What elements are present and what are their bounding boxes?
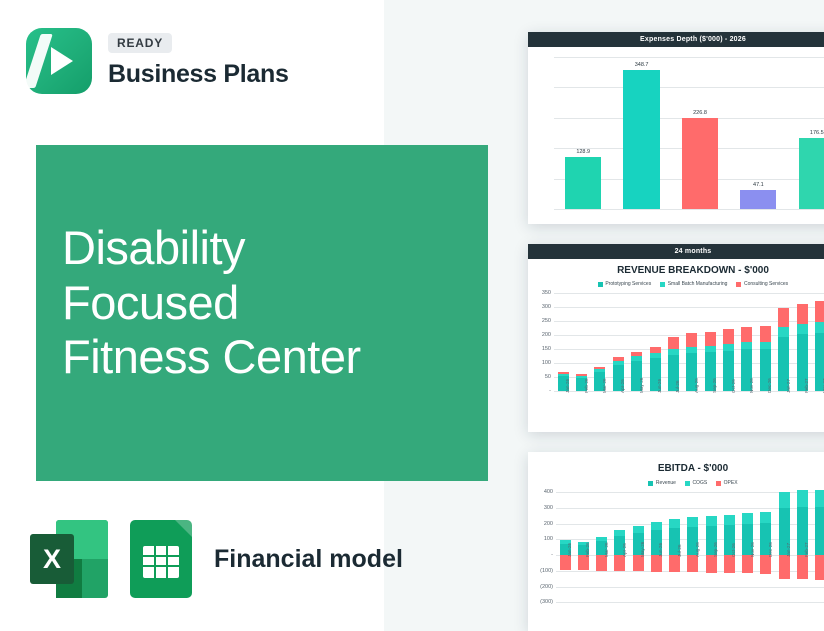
brand-name: Business Plans	[108, 60, 289, 89]
stacked-bar-segment	[651, 522, 662, 530]
stacked-bar-segment	[705, 346, 716, 352]
ebitda-chart-title: EBITDA - $'000	[528, 463, 824, 474]
revenue-legend: Prototyping ServicesSmall Batch Manufact…	[528, 281, 824, 287]
stacked-bar-segment	[797, 555, 808, 579]
y-axis-tick: 50	[545, 374, 551, 380]
stacked-bar-segment	[558, 372, 569, 373]
x-axis-tick: Feb-26	[585, 543, 590, 558]
x-axis-tick: Sep-26	[712, 379, 717, 394]
y-axis-tick: 200	[542, 332, 551, 338]
revenue-chart-title: REVENUE BREAKDOWN - $'000	[528, 265, 824, 276]
stacked-bar-segment	[669, 519, 680, 528]
stacked-bar-segment	[669, 555, 680, 572]
y-axis-tick: 100	[544, 536, 553, 542]
cover-title-line-1: Disability	[62, 221, 361, 276]
x-axis-tick: Nov-26	[749, 379, 754, 394]
stacked-bar-segment	[723, 329, 734, 344]
y-axis-tick: -	[551, 552, 553, 558]
gridline	[554, 391, 824, 392]
stacked-bar-segment	[815, 555, 824, 579]
stacked-bar-segment	[594, 367, 605, 369]
stacked-bar-segment	[760, 555, 771, 574]
gridline	[556, 587, 824, 588]
y-axis-tick: 200	[544, 521, 553, 527]
excel-letter: X	[30, 534, 74, 584]
stacked-bar-segment	[724, 555, 735, 573]
y-axis-tick: (200)	[540, 584, 553, 590]
revenue-bar-chart: -50100150200250300350Jan-26Feb-26Mar-26A…	[554, 293, 824, 391]
x-axis-tick: Oct-26	[731, 543, 736, 557]
stacked-bar-segment	[614, 555, 625, 571]
x-axis-tick: Dec-26	[767, 379, 772, 394]
x-axis-tick: Jan-26	[567, 543, 572, 557]
x-axis-tick: Jul-26	[677, 545, 682, 558]
bar-value-label: 226.8	[671, 110, 729, 116]
stacked-bar-segment	[760, 512, 771, 523]
x-axis-tick: Sep-26	[713, 542, 718, 557]
gridline	[554, 209, 824, 210]
revenue-card-topbar: 24 months	[528, 244, 824, 259]
y-axis-tick: 350	[542, 290, 551, 296]
chart-card-ebitda: EBITDA - $'000 RevenueCOGSOPEX 400300200…	[528, 452, 824, 631]
stacked-bar-segment	[706, 555, 717, 573]
stacked-bar-segment	[686, 347, 697, 353]
stacked-bar-segment	[596, 555, 607, 570]
x-axis-tick: Feb-27	[804, 543, 809, 558]
stacked-bar-segment	[742, 513, 753, 524]
stacked-bar-segment	[633, 555, 644, 571]
x-axis-tick: Feb-26	[584, 379, 589, 394]
stacked-bar-segment	[560, 555, 571, 570]
stacked-bar-segment	[705, 332, 716, 346]
stacked-bar-segment	[760, 342, 771, 349]
stacked-bar-segment	[815, 490, 824, 507]
ebitda-legend: RevenueCOGSOPEX	[528, 480, 824, 486]
legend-item: OPEX	[716, 480, 737, 486]
y-axis-tick: 100	[542, 360, 551, 366]
x-axis-tick: Apr-26	[622, 543, 627, 557]
legend-item: Revenue	[648, 480, 676, 486]
stacked-bar-segment	[631, 356, 642, 360]
stacked-bar-segment	[687, 517, 698, 527]
x-axis-tick: Apr-26	[620, 380, 625, 394]
expenses-bar-chart: 128.9348.7226.847.1176.5	[554, 57, 824, 209]
x-axis-tick: Jan-27	[786, 543, 791, 557]
stacked-bar-segment	[741, 327, 752, 342]
x-axis-tick: Jul-26	[675, 381, 680, 394]
financial-model-label: Financial model	[214, 545, 403, 574]
stacked-bar-segment	[651, 555, 662, 572]
y-axis-tick: (300)	[540, 599, 553, 605]
x-axis-tick: Jan-26	[565, 379, 570, 393]
stacked-bar-segment	[631, 352, 642, 356]
x-axis-tick: Oct-26	[731, 380, 736, 394]
stacked-bar-segment	[741, 342, 752, 349]
y-axis-tick: 400	[544, 489, 553, 495]
legend-item: Consulting Services	[736, 281, 788, 287]
stacked-bar-segment	[779, 492, 790, 509]
stacked-bar-segment	[778, 308, 789, 328]
stacked-bar-segment	[576, 374, 587, 375]
x-axis-tick: May-26	[639, 378, 644, 393]
gridline	[554, 293, 824, 294]
chart-card-revenue: 24 months REVENUE BREAKDOWN - $'000 Prot…	[528, 244, 824, 432]
bar	[799, 138, 824, 209]
x-axis-tick: Feb-27	[804, 379, 809, 394]
stacked-bar-segment	[614, 530, 625, 537]
stacked-bar-segment	[633, 526, 644, 534]
stacked-bar-segment	[650, 347, 661, 353]
stacked-bar-segment	[778, 327, 789, 337]
gridline	[554, 57, 824, 58]
ebitda-bar-chart: 400300200100-(100)(200)(300)Jan-26Feb-26…	[556, 492, 824, 602]
ready-badge: READY	[108, 33, 172, 53]
x-axis-tick: Jun-26	[657, 379, 662, 393]
y-axis-tick: 300	[542, 304, 551, 310]
bar	[682, 118, 718, 209]
stacked-bar-segment	[797, 490, 808, 507]
legend-item: Prototyping Services	[598, 281, 651, 287]
cover-title-block: Disability Focused Fitness Center	[36, 145, 488, 481]
stacked-bar-segment	[558, 374, 569, 376]
chart-card-expenses: Expenses Depth ($'000) - 2026 128.9348.7…	[528, 32, 824, 224]
excel-file-icon: X	[30, 520, 108, 598]
bar-value-label: 348.7	[612, 62, 670, 68]
x-axis-tick: Mar-26	[602, 379, 607, 394]
stacked-bar-segment	[797, 324, 808, 334]
stacked-bar-segment	[686, 333, 697, 346]
stacked-bar-segment	[668, 349, 679, 355]
x-axis-tick: Jan-27	[786, 379, 791, 393]
y-axis-tick: (100)	[540, 568, 553, 574]
gridline	[556, 602, 824, 603]
x-axis-tick: Aug-26	[694, 379, 699, 394]
stacked-bar-segment	[613, 361, 624, 365]
legend-item: COGS	[685, 480, 707, 486]
stacked-bar-segment	[613, 357, 624, 360]
x-axis-tick: Aug-26	[695, 542, 700, 557]
stacked-bar-segment	[594, 369, 605, 372]
cover-title-line-3: Fitness Center	[62, 330, 361, 385]
stacked-bar-segment	[760, 326, 771, 342]
x-axis-tick: Mar-26	[604, 543, 609, 558]
stacked-bar-segment	[779, 555, 790, 579]
stacked-bar-segment	[687, 555, 698, 572]
stacked-bar-segment	[815, 301, 824, 322]
play-triangle-icon	[26, 28, 92, 94]
bar	[565, 157, 601, 209]
cover-title-line-2: Focused	[62, 276, 361, 331]
stacked-bar-segment	[578, 555, 589, 570]
x-axis-tick: Dec-26	[768, 542, 773, 557]
stacked-bar-segment	[706, 516, 717, 526]
stacked-bar-segment	[596, 537, 607, 542]
x-axis-tick: May-26	[640, 542, 645, 557]
bar	[623, 70, 659, 209]
stacked-bar-segment	[668, 337, 679, 350]
stacked-bar-segment	[723, 344, 734, 351]
y-axis-tick: 250	[542, 318, 551, 324]
y-axis-tick: 150	[542, 346, 551, 352]
stacked-bar-segment	[797, 304, 808, 324]
bar-value-label: 176.5	[788, 130, 824, 136]
y-axis-tick: 300	[544, 505, 553, 511]
stacked-bar-segment	[650, 353, 661, 358]
x-axis-tick: Nov-26	[750, 542, 755, 557]
bar	[740, 190, 776, 209]
bar-value-label: 128.9	[554, 149, 612, 155]
bar-value-label: 47.1	[729, 182, 787, 188]
stacked-bar-segment	[724, 515, 735, 525]
stacked-bar-segment	[815, 322, 824, 333]
expenses-card-topbar: Expenses Depth ($'000) - 2026	[528, 32, 824, 47]
brand-logo: READY Business Plans	[26, 28, 289, 94]
y-axis-tick: -	[549, 388, 551, 394]
x-axis-tick: Jun-26	[658, 543, 663, 557]
google-sheets-icon	[130, 520, 192, 598]
legend-item: Small Batch Manufacturing	[660, 281, 727, 287]
file-format-row: X Financial model	[30, 520, 403, 598]
gridline	[554, 87, 824, 88]
stacked-bar-segment	[742, 555, 753, 573]
